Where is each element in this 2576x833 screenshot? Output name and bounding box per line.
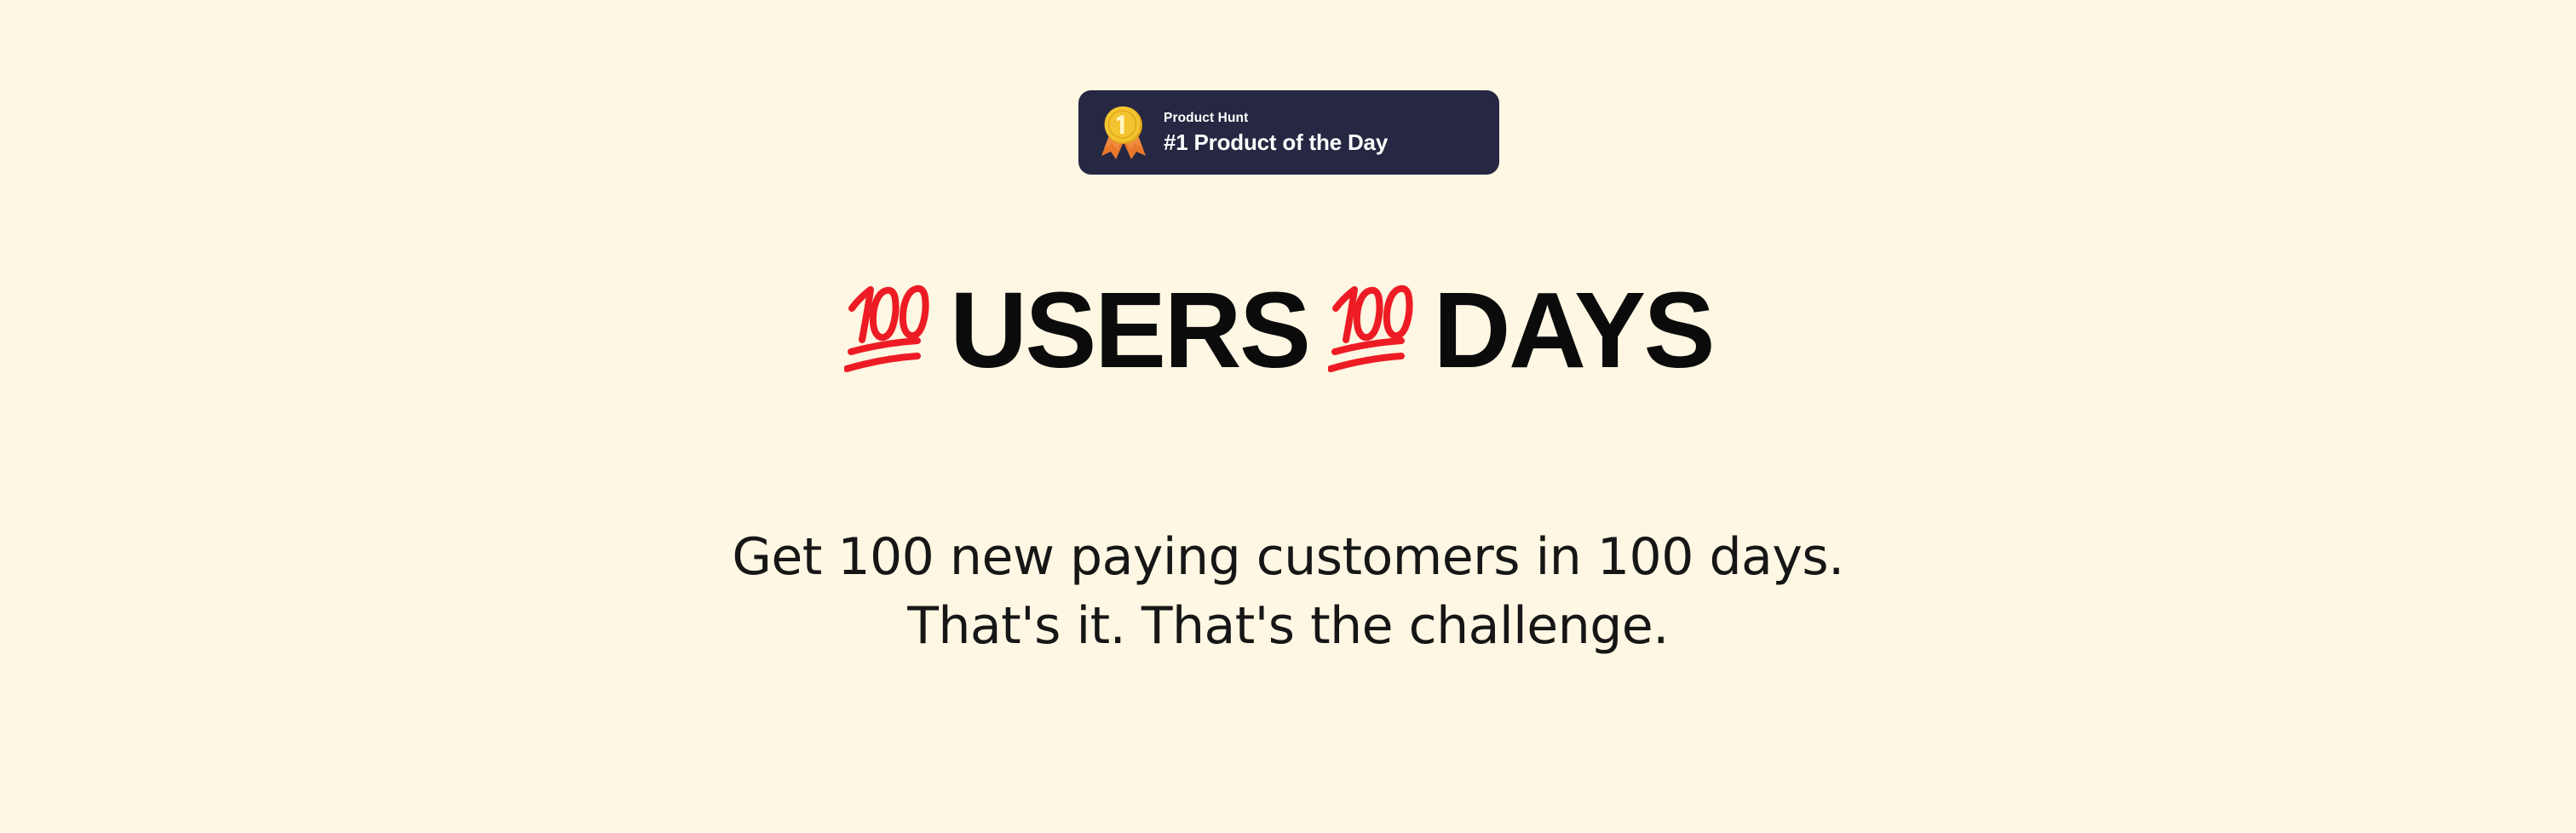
subheading-line-2: That's it. That's the challenge. — [0, 597, 2576, 657]
product-hunt-badge[interactable]: Product Hunt #1 Product of the Day — [1078, 90, 1499, 175]
badge-title: #1 Product of the Day — [1164, 131, 1388, 153]
page-headline: USERS DAYS — [0, 277, 2576, 384]
hero-section: Product Hunt #1 Product of the Day — [0, 0, 2576, 833]
badge-text-group: Product Hunt #1 Product of the Day — [1164, 112, 1388, 153]
headline-word-days: DAYS — [1417, 277, 1733, 384]
page-subheading: Get 100 new paying customers in 100 days… — [0, 528, 2576, 656]
subheading-line-1: Get 100 new paying customers in 100 days… — [0, 528, 2576, 588]
gold-medal-icon — [1097, 105, 1150, 161]
badge-kicker: Product Hunt — [1164, 112, 1388, 125]
hundred-points-icon — [1328, 280, 1417, 381]
hundred-points-icon — [844, 280, 933, 381]
headline-word-users: USERS — [933, 277, 1328, 384]
